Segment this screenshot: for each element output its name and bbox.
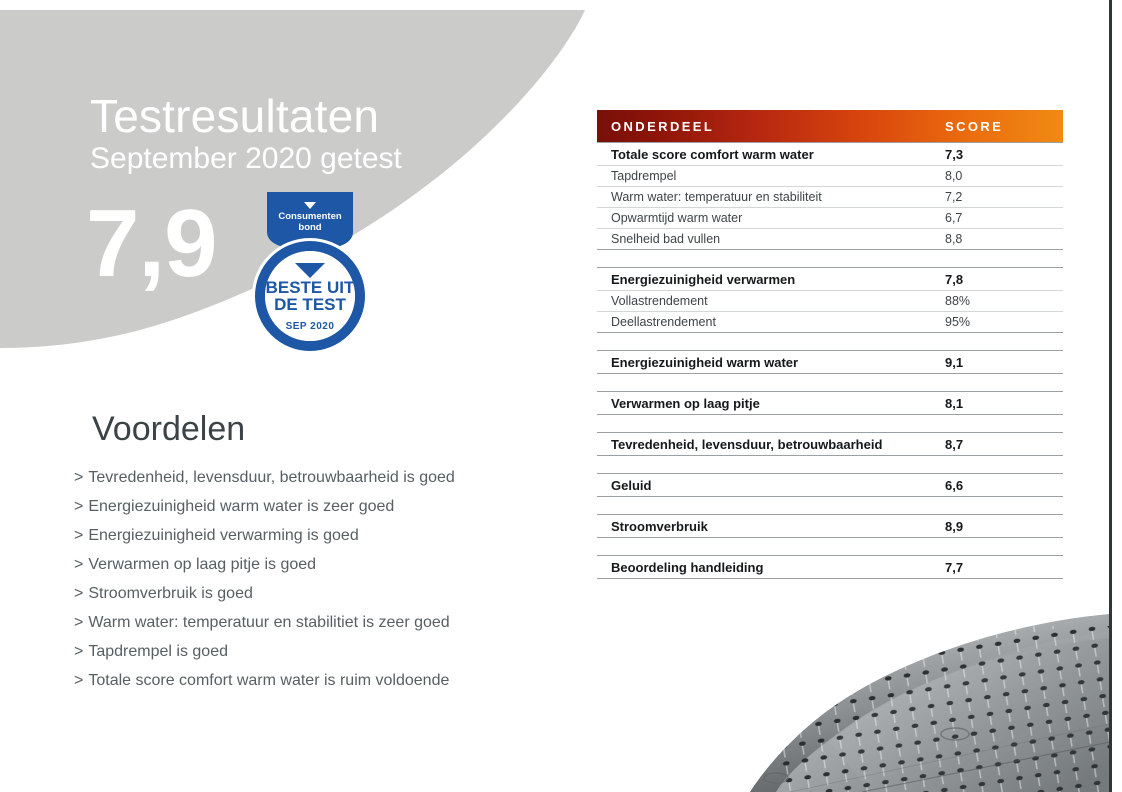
advantage-item-label: Energiezuinigheid warm water is zeer goe… <box>88 498 394 515</box>
page-root: Testresultaten September 2020 getest 7,9… <box>0 0 1122 792</box>
group-bottom-divider <box>597 578 1063 579</box>
table-row: Tapdrempel8,0 <box>597 166 1063 186</box>
row-label: Tevredenheid, levensduur, betrouwbaarhei… <box>597 437 945 452</box>
row-score: 6,7 <box>945 211 1063 225</box>
table-row: Opwarmtijd warm water6,7 <box>597 208 1063 228</box>
badge-brand-line2: bond <box>298 222 321 233</box>
advantage-item-label: Totale score comfort warm water is ruim … <box>88 672 449 689</box>
table-header-row: ONDERDEEL SCORE <box>597 110 1063 142</box>
page-right-border <box>1109 0 1112 792</box>
row-score: 8,7 <box>945 437 1063 452</box>
advantages-list: >Tevredenheid, levensduur, betrouwbaarhe… <box>74 463 544 695</box>
row-label: Warm water: temperatuur en stabiliteit <box>597 190 945 204</box>
shower-head-photo <box>750 592 1110 792</box>
advantage-item: >Tapdrempel is goed <box>74 637 544 666</box>
bullet-chevron-icon: > <box>74 614 83 631</box>
table-row: Warm water: temperatuur en stabiliteit7,… <box>597 187 1063 207</box>
table-group: Totale score comfort warm water7,3Tapdre… <box>597 142 1063 250</box>
advantage-item: >Stroomverbruik is goed <box>74 579 544 608</box>
advantage-item-label: Tevredenheid, levensduur, betrouwbaarhei… <box>88 469 454 486</box>
advantage-item: >Warm water: temperatuur en stabilitiet … <box>74 608 544 637</box>
row-label: Opwarmtijd warm water <box>597 211 945 225</box>
advantage-item-label: Tapdrempel is goed <box>88 643 228 660</box>
table-row: Vollastrendement88% <box>597 291 1063 311</box>
row-score: 7,2 <box>945 190 1063 204</box>
row-score: 9,1 <box>945 355 1063 370</box>
advantage-item: >Verwarmen op laag pitje is goed <box>74 550 544 579</box>
group-bottom-divider <box>597 332 1063 333</box>
table-row: Stroomverbruik8,9 <box>597 515 1063 537</box>
row-label: Totale score comfort warm water <box>597 147 945 162</box>
table-row: Beoordeling handleiding7,7 <box>597 556 1063 578</box>
overall-score: 7,9 <box>86 196 216 292</box>
table-row: Deellastrendement95% <box>597 312 1063 332</box>
row-score: 8,0 <box>945 169 1063 183</box>
table-group: Stroomverbruik8,9 <box>597 514 1063 538</box>
badge-seal-line2: DE TEST <box>274 295 346 314</box>
group-bottom-divider <box>597 414 1063 415</box>
table-group: Beoordeling handleiding7,7 <box>597 555 1063 579</box>
table-row: Energiezuinigheid warm water9,1 <box>597 351 1063 373</box>
bullet-chevron-icon: > <box>74 498 83 515</box>
row-score: 88% <box>945 294 1063 308</box>
row-label: Stroomverbruik <box>597 519 945 534</box>
beste-uit-de-test-badge: Consumenten bond BESTE UIT DE TEST SEP 2… <box>245 192 375 357</box>
table-row: Energiezuinigheid verwarmen7,8 <box>597 268 1063 290</box>
row-label: Energiezuinigheid warm water <box>597 355 945 370</box>
score-table: ONDERDEEL SCORE Totale score comfort war… <box>597 110 1063 579</box>
badge-seal-date: SEP 2020 <box>286 321 335 332</box>
row-label: Deellastrendement <box>597 315 945 329</box>
column-header-onderdeel: ONDERDEEL <box>597 119 945 134</box>
table-group: Energiezuinigheid verwarmen7,8Vollastren… <box>597 267 1063 333</box>
group-bottom-divider <box>597 455 1063 456</box>
row-score: 8,1 <box>945 396 1063 411</box>
bullet-chevron-icon: > <box>74 527 83 544</box>
bullet-chevron-icon: > <box>74 672 83 689</box>
bullet-chevron-icon: > <box>74 643 83 660</box>
advantage-item: >Energiezuinigheid warm water is zeer go… <box>74 492 544 521</box>
advantage-item-label: Energiezuinigheid verwarming is goed <box>88 527 358 544</box>
advantage-item-label: Verwarmen op laag pitje is goed <box>88 556 316 573</box>
advantage-item-label: Warm water: temperatuur en stabilitiet i… <box>88 614 449 631</box>
row-label: Geluid <box>597 478 945 493</box>
bullet-chevron-icon: > <box>74 556 83 573</box>
left-column: Testresultaten September 2020 getest 7,9… <box>0 0 580 792</box>
row-score: 8,9 <box>945 519 1063 534</box>
table-row: Totale score comfort warm water7,3 <box>597 143 1063 165</box>
row-score: 8,8 <box>945 232 1063 246</box>
row-score: 7,7 <box>945 560 1063 575</box>
group-bottom-divider <box>597 496 1063 497</box>
column-header-score: SCORE <box>945 119 1063 134</box>
advantage-item-label: Stroomverbruik is goed <box>88 585 253 602</box>
row-label: Beoordeling handleiding <box>597 560 945 575</box>
row-score: 95% <box>945 315 1063 329</box>
badge-brand-line1: Consumenten <box>278 211 342 222</box>
row-label: Tapdrempel <box>597 169 945 183</box>
advantages-heading: Voordelen <box>92 412 245 446</box>
table-row: Tevredenheid, levensduur, betrouwbaarhei… <box>597 433 1063 455</box>
group-bottom-divider <box>597 537 1063 538</box>
table-row: Geluid6,6 <box>597 474 1063 496</box>
bullet-chevron-icon: > <box>74 585 83 602</box>
table-body: Totale score comfort warm water7,3Tapdre… <box>597 142 1063 579</box>
row-label: Vollastrendement <box>597 294 945 308</box>
table-row: Snelheid bad vullen8,8 <box>597 229 1063 249</box>
row-label: Energiezuinigheid verwarmen <box>597 272 945 287</box>
table-group: Tevredenheid, levensduur, betrouwbaarhei… <box>597 432 1063 456</box>
table-row: Verwarmen op laag pitje8,1 <box>597 392 1063 414</box>
row-score: 6,6 <box>945 478 1063 493</box>
table-group: Verwarmen op laag pitje8,1 <box>597 391 1063 415</box>
bullet-chevron-icon: > <box>74 469 83 486</box>
row-score: 7,8 <box>945 272 1063 287</box>
group-bottom-divider <box>597 249 1063 250</box>
page-subtitle: September 2020 getest <box>90 144 402 174</box>
row-score: 7,3 <box>945 147 1063 162</box>
group-bottom-divider <box>597 373 1063 374</box>
page-title: Testresultaten <box>90 93 379 139</box>
advantage-item: >Tevredenheid, levensduur, betrouwbaarhe… <box>74 463 544 492</box>
row-label: Verwarmen op laag pitje <box>597 396 945 411</box>
table-group: Geluid6,6 <box>597 473 1063 497</box>
advantage-item: >Energiezuinigheid verwarming is goed <box>74 521 544 550</box>
advantage-item: >Totale score comfort warm water is ruim… <box>74 666 544 695</box>
table-group: Energiezuinigheid warm water9,1 <box>597 350 1063 374</box>
row-label: Snelheid bad vullen <box>597 232 945 246</box>
